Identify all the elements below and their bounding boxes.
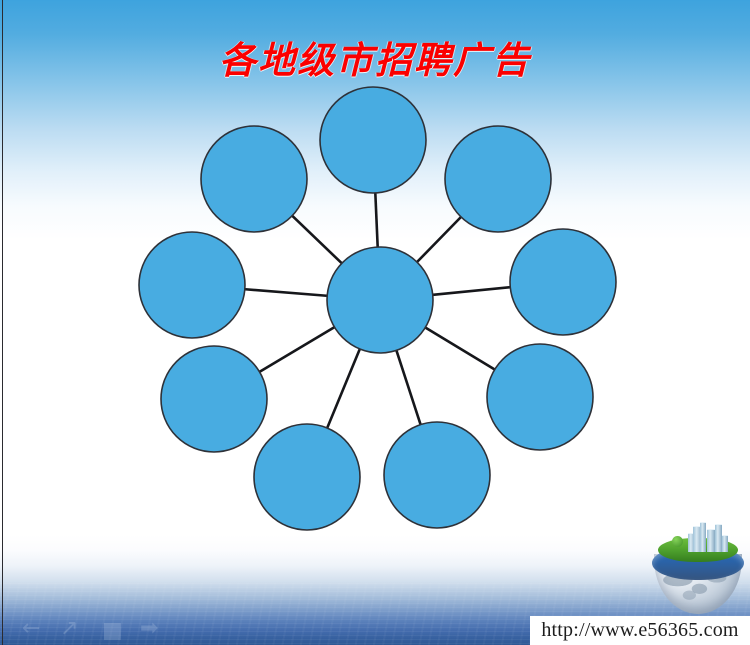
slide-canvas: ← ↗ ■ ➡ 各地级市招聘广告 http://www.e56365.com [0,0,750,645]
watermark-url-text: http://www.e56365.com [541,619,738,642]
skyline-building-3 [700,522,706,552]
spoke-line-right [432,287,511,295]
outer-node-circle-upper-right[interactable] [445,126,551,232]
skyline-building-4 [707,529,715,552]
spoke-line-left [244,289,328,296]
center-node-circle[interactable] [327,247,433,353]
skyline-building-5 [715,524,722,552]
outer-node-circle-upper-left[interactable] [201,126,307,232]
globe-tree-icon [672,536,683,547]
spoke-line-top [375,192,377,248]
outer-node-circle-lower-left[interactable] [161,346,267,452]
globe-city-skyline [688,522,732,552]
outer-node-circle-bottom-left[interactable] [254,424,360,530]
spoke-line-bottom-right [396,349,421,425]
spoke-line-upper-right [416,216,461,263]
outer-node-circle-top[interactable] [320,87,426,193]
skyline-building-6 [722,535,728,552]
watermark-url-bar: http://www.e56365.com [530,616,750,645]
hub-and-spoke-diagram [0,0,750,645]
outer-node-circle-right[interactable] [510,229,616,335]
spoke-line-bottom-left [327,348,360,429]
outer-node-circle-lower-right[interactable] [487,344,593,450]
spoke-line-upper-left [292,215,343,264]
globe-city-logo [648,522,748,618]
spoke-line-lower-right [424,327,495,370]
outer-node-circle-bottom-right[interactable] [384,422,490,528]
spoke-line-lower-left [259,327,336,373]
outer-node-circle-left[interactable] [139,232,245,338]
